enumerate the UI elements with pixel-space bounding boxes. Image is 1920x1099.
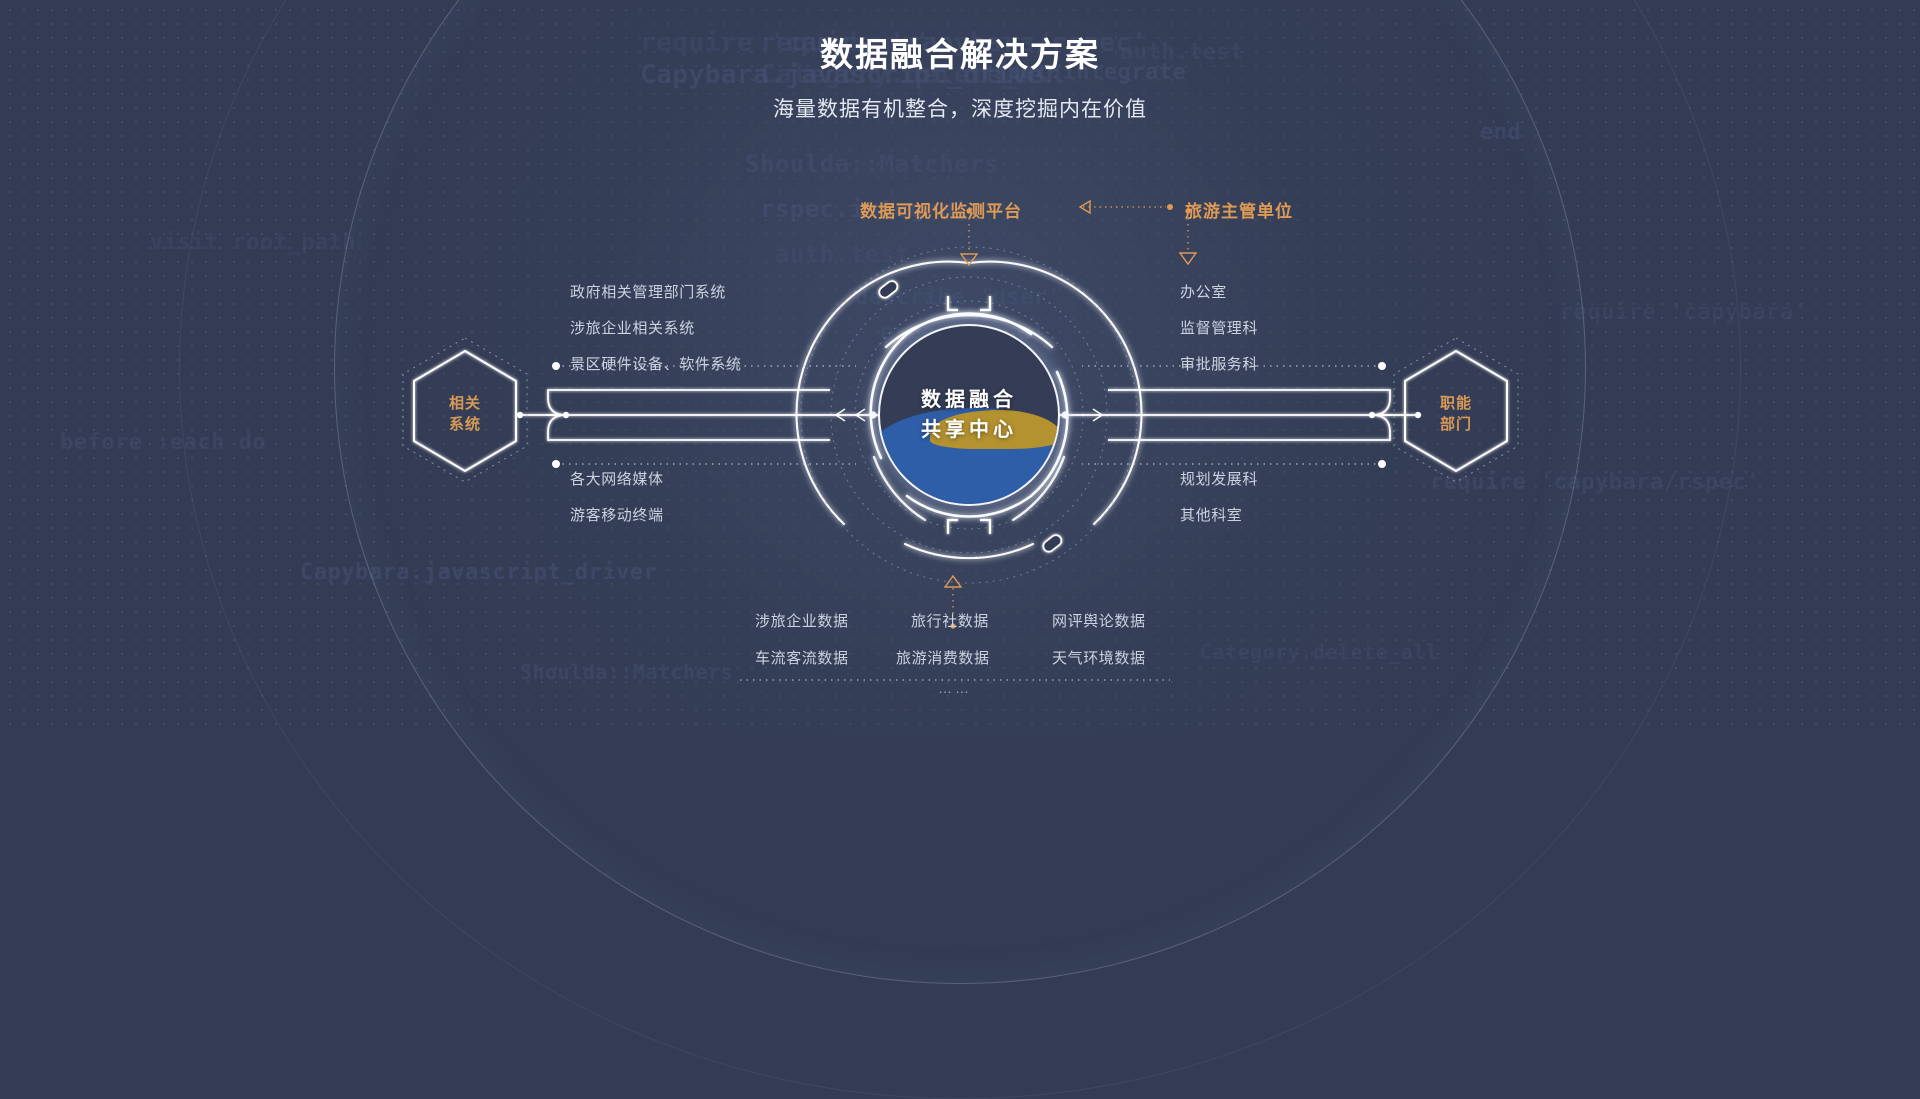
label-bottom-ellipsis: …… xyxy=(938,680,972,696)
label-bottom-r1c2[interactable]: 网评舆论数据 xyxy=(1052,610,1146,631)
label-bottom-r1c1[interactable]: 旅行社数据 xyxy=(911,610,989,631)
node-left-hexagon-label: 相关 系统 xyxy=(449,394,481,435)
core-label: 数据融合 共享中心 xyxy=(880,326,1058,504)
label-left-lower-1[interactable]: 游客移动终端 xyxy=(570,504,664,525)
label-left-upper-2[interactable]: 景区硬件设备、软件系统 xyxy=(570,353,742,374)
page-header: 数据融合解决方案 海量数据有机整合，深度挖掘内在价值 xyxy=(0,34,1920,123)
page-subtitle: 海量数据有机整合，深度挖掘内在价值 xyxy=(0,93,1920,123)
label-right-upper-2[interactable]: 审批服务科 xyxy=(1180,353,1258,374)
label-tourism-authority[interactable]: 旅游主管单位 xyxy=(1185,197,1293,222)
page-title: 数据融合解决方案 xyxy=(0,34,1920,75)
label-right-lower-0[interactable]: 规划发展科 xyxy=(1180,468,1258,489)
right-hex-line1: 职能 xyxy=(1440,394,1472,415)
label-right-lower-1[interactable]: 其他科室 xyxy=(1180,504,1242,525)
node-right-hexagon[interactable]: 职能 部门 xyxy=(1412,365,1500,465)
label-bottom-r1c0[interactable]: 涉旅企业数据 xyxy=(755,610,849,631)
core-node[interactable]: 数据融合 共享中心 xyxy=(880,326,1058,504)
label-left-lower-0[interactable]: 各大网络媒体 xyxy=(570,468,664,489)
label-bottom-r2c2[interactable]: 天气环境数据 xyxy=(1052,647,1146,668)
node-right-hexagon-label: 职能 部门 xyxy=(1440,394,1472,435)
label-left-upper-0[interactable]: 政府相关管理部门系统 xyxy=(570,281,726,302)
label-bottom-r2c0[interactable]: 车流客流数据 xyxy=(755,647,849,668)
node-left-hexagon[interactable]: 相关 系统 xyxy=(421,365,509,465)
label-visualization-platform[interactable]: 数据可视化监测平台 xyxy=(860,197,1022,222)
label-right-upper-0[interactable]: 办公室 xyxy=(1180,281,1227,302)
label-right-upper-1[interactable]: 监督管理科 xyxy=(1180,317,1258,338)
label-left-upper-1[interactable]: 涉旅企业相关系统 xyxy=(570,317,695,338)
core-label-line1: 数据融合 xyxy=(921,385,1017,415)
right-hex-line2: 部门 xyxy=(1440,415,1472,436)
core-label-line2: 共享中心 xyxy=(921,415,1017,445)
left-hex-line1: 相关 xyxy=(449,394,481,415)
left-hex-line2: 系统 xyxy=(449,415,481,436)
label-bottom-r2c1[interactable]: 旅游消费数据 xyxy=(896,647,990,668)
